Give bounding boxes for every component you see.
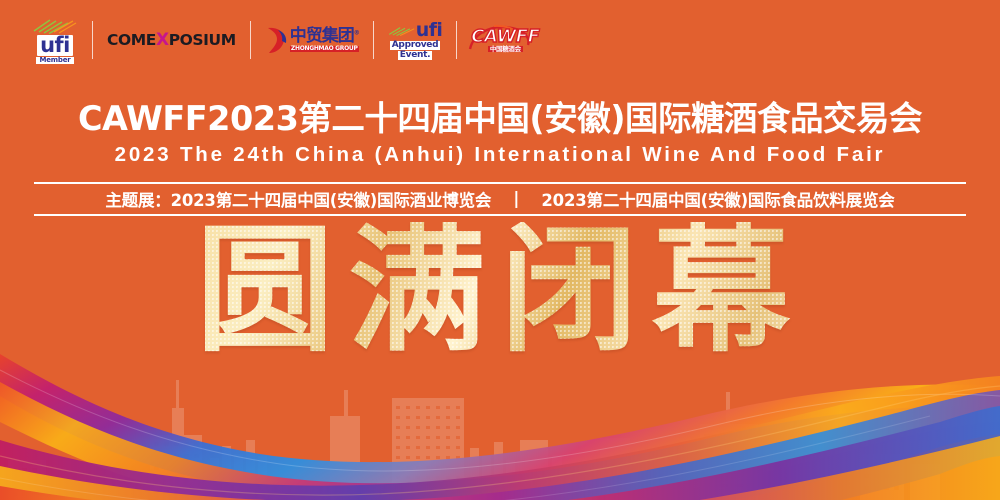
ufi-approved-line2: Event.	[398, 51, 432, 60]
zhonghmao-dragon-icon	[265, 26, 288, 55]
comexposium-text-after: POSIUM	[169, 31, 236, 49]
ufi-member-subtitle: Member	[36, 57, 73, 64]
page-subtitle: 2023 The 24th China (Anhui) Internationa…	[0, 143, 1000, 167]
page-title: CAWFF2023第二十四届中国(安徽)国际糖酒食品交易会	[0, 100, 1000, 139]
slogan-block: 圆满闭幕	[0, 222, 1000, 360]
logo-divider	[250, 21, 251, 59]
zhonghmao-chinese-name: 中贸集团®	[290, 28, 359, 45]
logo-divider	[456, 21, 457, 59]
comexposium-text-before: COME	[107, 31, 156, 49]
ufi-approved-event-logo[interactable]: ufi Approved Event.	[378, 12, 453, 68]
comexposium-x-icon: X	[156, 30, 169, 50]
zhonghmao-group-logo[interactable]: 中贸集团® ZHONGHMAO GROUP	[255, 12, 369, 68]
zhonghmao-english-name: ZHONGHMAO GROUP	[290, 46, 359, 52]
ufi-approved-wordmark: ufi	[416, 21, 443, 40]
event-banner: ufi Member COME X POSIUM 中贸集团® ZHONGH	[0, 0, 1000, 500]
ufi-member-wordmark: ufi	[37, 35, 73, 56]
ufi-wing-icon	[32, 17, 78, 34]
comexposium-logo[interactable]: COME X POSIUM	[97, 12, 246, 68]
ufi-approved-line1: Approved	[390, 41, 441, 50]
ufi-member-logo[interactable]: ufi Member	[22, 12, 88, 68]
slogan-text: 圆满闭幕	[196, 222, 804, 360]
cawff-wordmark: CAWFF	[471, 28, 539, 46]
city-skyline-decoration	[0, 350, 1000, 500]
theme-left-label: 主题展：2023第二十四届中国(安徽)国际酒业博览会	[105, 187, 491, 211]
logo-divider	[92, 21, 93, 59]
sponsor-logo-strip: ufi Member COME X POSIUM 中贸集团® ZHONGH	[22, 10, 549, 70]
ufi-approved-wing-icon	[388, 23, 416, 39]
cawff-logo[interactable]: CAWFF 中国糖酒会	[461, 12, 549, 68]
theme-right-label: 2023第二十四届中国(安徽)国际食品饮料展览会	[541, 187, 894, 211]
logo-divider	[373, 21, 374, 59]
theme-separator: |	[513, 189, 519, 209]
headline-block: CAWFF2023第二十四届中国(安徽)国际糖酒食品交易会 2023 The 2…	[0, 100, 1000, 167]
